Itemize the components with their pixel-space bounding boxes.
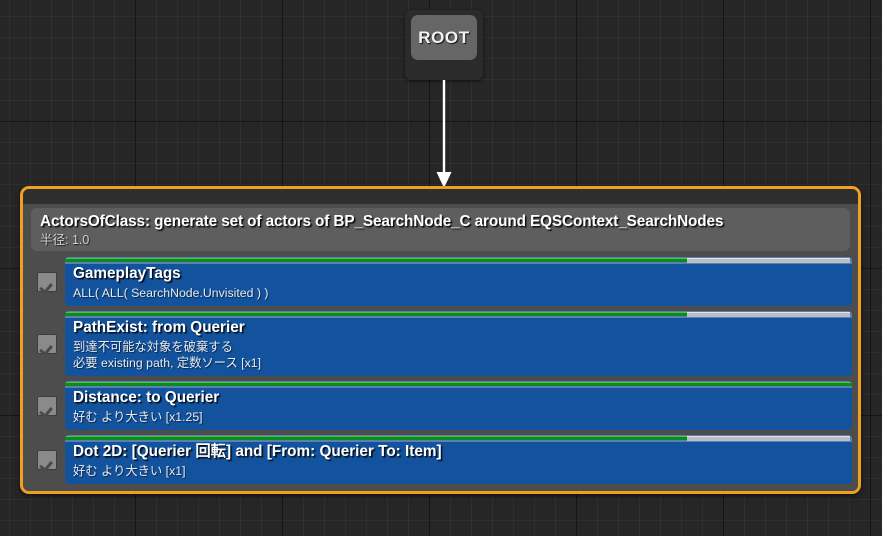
generator-node[interactable]: ActorsOfClass: generate set of actors of…: [20, 186, 861, 494]
test-enabled-checkbox[interactable]: [37, 272, 57, 292]
test-title: Dot 2D: [Querier 回転] and [From: Querier …: [73, 441, 844, 463]
test-detail: 好む より大きい [x1]: [73, 463, 844, 479]
generator-node-body: ActorsOfClass: generate set of actors of…: [23, 204, 858, 491]
test-weight-bar: [65, 311, 852, 318]
test-detail: 好む より大きい [x1.25]: [73, 409, 844, 425]
test-row[interactable]: PathExist: from Querier 到達不可能な対象を破棄する 必要…: [29, 311, 852, 376]
root-node-title-bar[interactable]: ROOT: [411, 15, 477, 60]
test-detail: 必要 existing path, 定数ソース [x1]: [73, 355, 844, 371]
test-title: PathExist: from Querier: [73, 317, 844, 339]
test-card[interactable]: PathExist: from Querier 到達不可能な対象を破棄する 必要…: [65, 311, 852, 376]
test-title: Distance: to Querier: [73, 387, 844, 409]
root-node-label: ROOT: [418, 28, 470, 48]
test-weight-bar-track: [687, 312, 850, 317]
down-arrow-icon: [428, 80, 460, 190]
test-detail: 到達不可能な対象を破棄する: [73, 339, 844, 355]
test-weight-bar-fill: [65, 312, 687, 316]
root-node[interactable]: ROOT: [405, 10, 483, 80]
generator-title: ActorsOfClass: generate set of actors of…: [40, 211, 842, 232]
test-enabled-checkbox[interactable]: [37, 396, 57, 416]
test-card[interactable]: Dot 2D: [Querier 回転] and [From: Querier …: [65, 435, 852, 484]
test-card[interactable]: GameplayTags ALL( ALL( SearchNode.Unvisi…: [65, 257, 852, 306]
test-weight-bar-fill: [65, 258, 687, 262]
test-weight-bar-fill: [65, 382, 852, 386]
test-enabled-checkbox[interactable]: [37, 334, 57, 354]
generator-subtitle: 半径: 1.0: [40, 232, 842, 249]
test-weight-bar: [65, 381, 852, 388]
graph-canvas[interactable]: ROOT ActorsOfClass: generate set of acto…: [0, 0, 882, 536]
test-row[interactable]: GameplayTags ALL( ALL( SearchNode.Unvisi…: [29, 257, 852, 306]
generator-node-top-strip: [23, 189, 858, 204]
test-enabled-checkbox[interactable]: [37, 450, 57, 470]
test-weight-bar-track: [687, 258, 850, 263]
generator-header[interactable]: ActorsOfClass: generate set of actors of…: [31, 208, 850, 251]
test-weight-bar-fill: [65, 436, 687, 440]
test-weight-bar-track: [687, 436, 850, 441]
test-card[interactable]: Distance: to Querier 好む より大きい [x1.25]: [65, 381, 852, 430]
test-row[interactable]: Distance: to Querier 好む より大きい [x1.25]: [29, 381, 852, 430]
test-title: GameplayTags: [73, 263, 844, 285]
test-weight-bar: [65, 435, 852, 442]
test-row[interactable]: Dot 2D: [Querier 回転] and [From: Querier …: [29, 435, 852, 484]
test-detail: ALL( ALL( SearchNode.Unvisited ) ): [73, 285, 844, 301]
test-weight-bar: [65, 257, 852, 264]
